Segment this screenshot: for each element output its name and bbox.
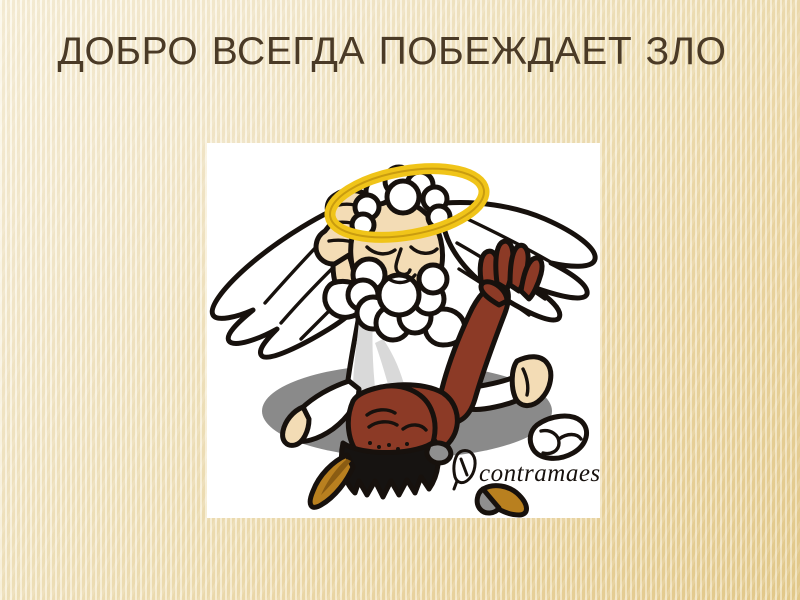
slide-canvas: ДОБРО ВСЕГДА ПОБЕЖДАЕТ ЗЛО — [0, 0, 800, 600]
signature-text: contramaestre — [479, 460, 600, 487]
page-title: ДОБРО ВСЕГДА ПОБЕЖДАЕТ ЗЛО — [22, 28, 762, 75]
flying-sandal-icon — [530, 416, 586, 458]
signature: contramaestre — [454, 451, 600, 490]
devil-horn-icon — [310, 455, 353, 507]
devil-head-icon — [342, 386, 439, 497]
pen-nib-icon — [454, 451, 475, 490]
illustration-panel: contramaestre — [207, 143, 600, 518]
angel-defeating-devil-illustration: contramaestre — [207, 143, 600, 518]
broken-horn-piece-icon — [477, 486, 526, 515]
devil-horn-nub-icon — [427, 443, 451, 463]
